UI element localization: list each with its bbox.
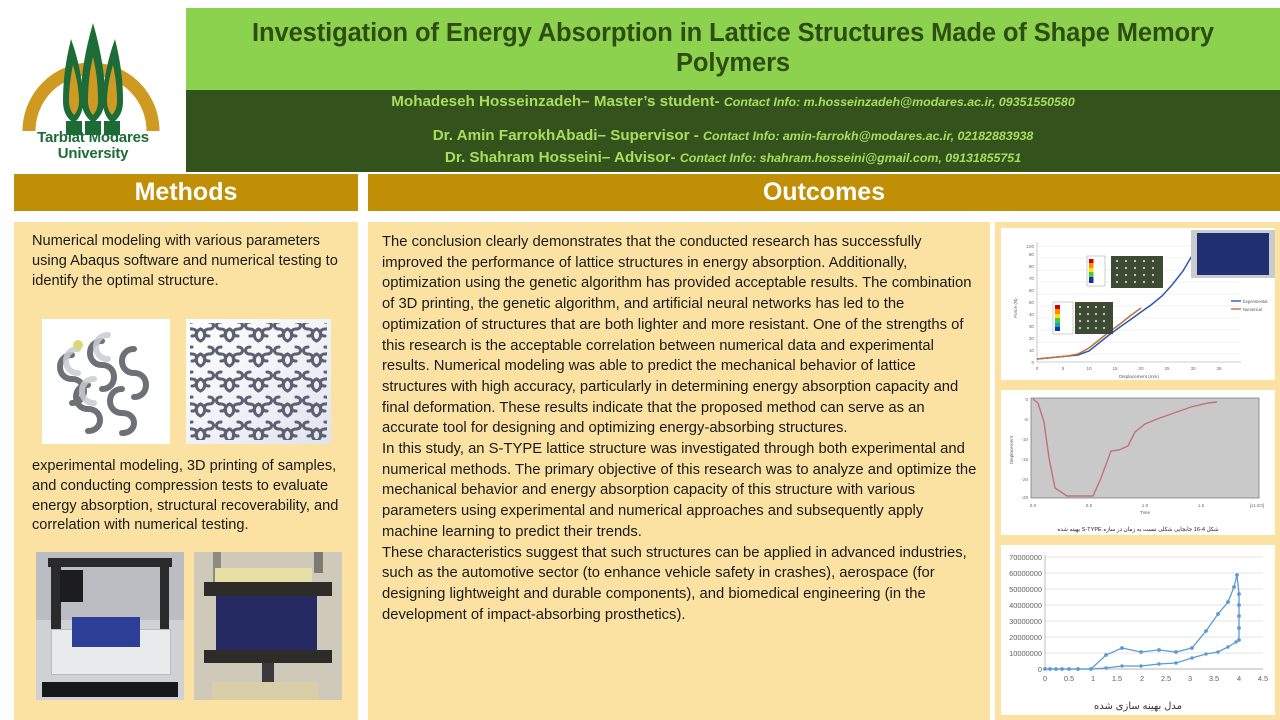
yaxis-label-displacement: Displacement xyxy=(1009,435,1014,464)
yaxis-label-force: Force (N) xyxy=(1013,298,1018,318)
svg-text:0: 0 xyxy=(1031,360,1034,365)
svg-text:2.5: 2.5 xyxy=(1161,674,1171,683)
methods-paragraph-1: Numerical modeling with various paramete… xyxy=(32,232,344,291)
svg-text:90: 90 xyxy=(1029,252,1035,257)
chart-force-displacement: 0510 152025 3035 01020 304050 607080 901… xyxy=(1001,228,1275,380)
chart-optimized-model: 700000006000000050000000 400000003000000… xyxy=(1001,545,1275,715)
svg-text:15: 15 xyxy=(1112,366,1118,371)
svg-text:40000000: 40000000 xyxy=(1009,601,1042,610)
lattice-tiled-drawing xyxy=(186,319,331,444)
outcomes-text-block: The conclusion clearly demonstrates that… xyxy=(382,232,980,625)
svg-text:10: 10 xyxy=(1086,366,1092,371)
xaxis-label-time: Time xyxy=(1140,510,1150,515)
svg-text:[x1.E3]: [x1.E3] xyxy=(1250,503,1264,508)
author-contact-1: Contact Info: m.hosseinzadeh@modares.ac.… xyxy=(724,95,1075,109)
figures-panel: 0510 152025 3035 01020 304050 607080 901… xyxy=(995,222,1280,720)
displacement-time-plot: 0.00.5 1.01.5 [x1.E3] 0-5-10 -15-20-25 T… xyxy=(1001,390,1275,518)
test-support-post xyxy=(262,663,274,684)
outcomes-paragraph-1: The conclusion clearly demonstrates that… xyxy=(382,232,980,439)
svg-text:0: 0 xyxy=(1036,366,1039,371)
svg-text:25: 25 xyxy=(1164,366,1170,371)
svg-text:50: 50 xyxy=(1029,300,1035,305)
svg-text:1.5: 1.5 xyxy=(1198,503,1205,508)
svg-text:30: 30 xyxy=(1029,324,1035,329)
svg-text:30000000: 30000000 xyxy=(1009,617,1042,626)
author-line-2: Dr. Amin FarrokhAbadi– Supervisor - Cont… xyxy=(186,127,1280,144)
svg-text:30: 30 xyxy=(1190,366,1196,371)
author-name-3: Dr. Shahram Hosseini– Advisor- xyxy=(445,149,676,166)
printer-gantry xyxy=(48,558,172,567)
author-name-1: Mohadeseh Hosseinzadeh– Master’s student… xyxy=(391,93,719,110)
outcomes-paragraph-2: In this study, an S-TYPE lattice structu… xyxy=(382,439,980,543)
lattice-deformed-inset-lower xyxy=(1075,302,1113,334)
lattice-unit-cell-drawing xyxy=(42,319,170,444)
page-title: Investigation of Energy Absorption in La… xyxy=(186,19,1280,78)
svg-text:4: 4 xyxy=(1237,674,1241,683)
abaqus-contour-inset-lower xyxy=(1053,302,1073,334)
figure-caption-persian-1: شکل 4-16 جابجایی شکلی نسبت به زمان در سا… xyxy=(1001,527,1275,533)
svg-text:10: 10 xyxy=(1029,348,1035,353)
svg-text:70: 70 xyxy=(1029,276,1035,281)
svg-text:80: 80 xyxy=(1029,264,1035,269)
svg-text:20: 20 xyxy=(1138,366,1144,371)
svg-text:10000000: 10000000 xyxy=(1009,649,1042,658)
svg-text:-15: -15 xyxy=(1021,457,1028,462)
svg-text:0.5: 0.5 xyxy=(1086,503,1093,508)
test-lattice-sample xyxy=(216,596,317,649)
svg-text:4.5: 4.5 xyxy=(1258,674,1268,683)
printer-base xyxy=(42,682,178,697)
optimized-model-plot: 700000006000000050000000 400000003000000… xyxy=(1001,545,1275,695)
section-title-outcomes: Outcomes xyxy=(763,178,885,207)
svg-text:70000000: 70000000 xyxy=(1009,553,1042,562)
svg-text:2: 2 xyxy=(1140,674,1144,683)
author-contact-2: Contact Info: amin-farrokh@modares.ac.ir… xyxy=(703,129,1033,143)
lattice-tiled-figure xyxy=(186,319,331,444)
outcomes-panel: The conclusion clearly demonstrates that… xyxy=(368,222,990,720)
author-line-3: Dr. Shahram Hosseini– Advisor- Contact I… xyxy=(186,149,1280,166)
svg-text:0.0: 0.0 xyxy=(1030,503,1037,508)
svg-text:3: 3 xyxy=(1188,674,1192,683)
logo-caption-line1: Tarbiat Modares xyxy=(13,130,173,145)
svg-text:20: 20 xyxy=(1029,336,1035,341)
svg-text:1: 1 xyxy=(1091,674,1095,683)
svg-text:1.5: 1.5 xyxy=(1112,674,1122,683)
svg-text:3.5: 3.5 xyxy=(1209,674,1219,683)
test-rod-right xyxy=(314,552,323,573)
svg-text:60: 60 xyxy=(1029,288,1035,293)
svg-text:-10: -10 xyxy=(1021,437,1028,442)
svg-text:1.0: 1.0 xyxy=(1142,503,1149,508)
logo-caption-line2: University xyxy=(13,146,173,161)
compression-test-photo xyxy=(194,552,342,700)
logo-caption: Tarbiat Modares University xyxy=(13,130,173,161)
svg-text:-5: -5 xyxy=(1024,417,1029,422)
svg-text:0: 0 xyxy=(1043,674,1047,683)
svg-text:-25: -25 xyxy=(1021,495,1028,500)
svg-text:0: 0 xyxy=(1038,665,1042,674)
methods-panel: Numerical modeling with various paramete… xyxy=(14,222,358,720)
methods-paragraph-2: experimental modeling, 3D printing of sa… xyxy=(32,457,352,536)
section-header-outcomes: Outcomes xyxy=(368,174,1280,211)
section-title-methods: Methods xyxy=(135,178,238,207)
lattice-deformed-inset-upper xyxy=(1111,256,1163,288)
svg-text:20000000: 20000000 xyxy=(1009,633,1042,642)
svg-text:50000000: 50000000 xyxy=(1009,585,1042,594)
svg-text:Experimental: Experimental xyxy=(1243,299,1268,304)
svg-text:100: 100 xyxy=(1026,244,1034,249)
svg-text:Numerical: Numerical xyxy=(1243,307,1262,312)
3d-printer-photo xyxy=(36,552,184,700)
authors-band: Mohadeseh Hosseinzadeh– Master’s student… xyxy=(186,90,1280,172)
outcomes-paragraph-3: These characteristics suggest that such … xyxy=(382,543,980,626)
experimental-specimen-inset xyxy=(1191,230,1275,278)
svg-text:40: 40 xyxy=(1029,312,1035,317)
author-line-1: Mohadeseh Hosseinzadeh– Master’s student… xyxy=(186,93,1280,110)
xaxis-label-displacement: Displacement (mm) xyxy=(1119,374,1159,379)
force-displacement-plot: 0510 152025 3035 01020 304050 607080 901… xyxy=(1001,228,1275,380)
svg-text:0: 0 xyxy=(1025,397,1028,402)
svg-text:35: 35 xyxy=(1216,366,1222,371)
lattice-unit-cell-figure xyxy=(42,319,170,444)
poster-title-band: Investigation of Energy Absorption in La… xyxy=(186,8,1280,90)
printer-extruder-head xyxy=(60,570,84,603)
test-top-platen xyxy=(204,582,331,597)
printed-lattice-specimen xyxy=(72,617,140,647)
author-name-2: Dr. Amin FarrokhAbadi– Supervisor - xyxy=(433,127,699,144)
university-logo: Tarbiat Modares University xyxy=(0,0,186,176)
chart-displacement-time: 0.00.5 1.01.5 [x1.E3] 0-5-10 -15-20-25 T… xyxy=(1001,390,1275,535)
section-header-methods: Methods xyxy=(14,174,358,211)
svg-text:60000000: 60000000 xyxy=(1009,569,1042,578)
test-bottom-platen xyxy=(204,650,331,663)
author-contact-3: Contact Info: shahram.hosseini@gmail.com… xyxy=(680,151,1021,165)
abaqus-contour-inset-upper xyxy=(1087,256,1105,286)
poster-root: Tarbiat Modares University Investigation… xyxy=(0,0,1280,720)
svg-text:-20: -20 xyxy=(1021,477,1028,482)
svg-text:0.5: 0.5 xyxy=(1064,674,1074,683)
figure-caption-persian-2: مدل بهینه سازی شده xyxy=(1001,701,1275,712)
test-pedestal xyxy=(212,682,319,700)
svg-text:5: 5 xyxy=(1062,366,1065,371)
